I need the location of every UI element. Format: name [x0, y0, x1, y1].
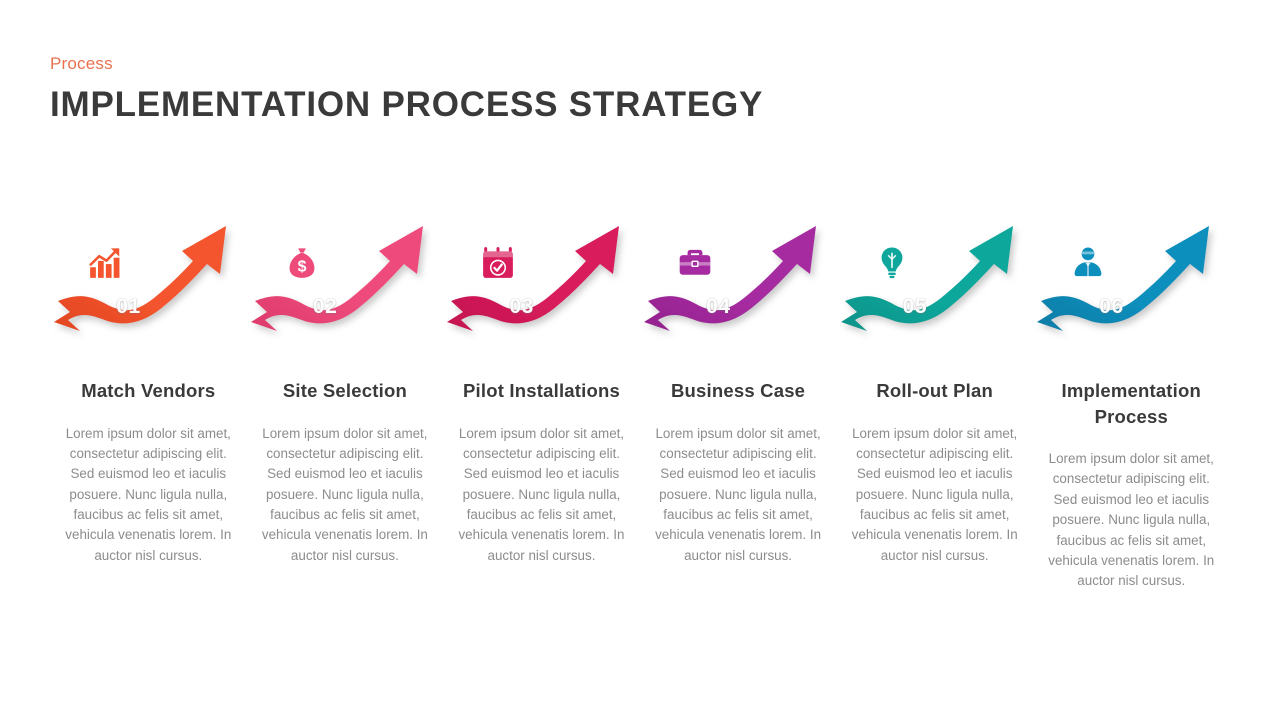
slide-header: Process IMPLEMENTATION PROCESS STRATEGY: [50, 54, 763, 125]
slide-canvas: Process IMPLEMENTATION PROCESS STRATEGY …: [0, 0, 1280, 720]
step-title-02: Site Selection: [255, 378, 435, 404]
step-title-06: Implementation Process: [1041, 378, 1221, 429]
step-number-06: 06: [1099, 296, 1123, 317]
svg-text:$: $: [297, 259, 306, 276]
process-step-04: 04Business CaseLorem ipsum dolor sit ame…: [640, 218, 837, 566]
step-title-04: Business Case: [648, 378, 828, 404]
process-step-06: 06Implementation ProcessLorem ipsum dolo…: [1033, 218, 1230, 592]
step-body-01: Lorem ipsum dolor sit amet, consectetur …: [60, 424, 236, 567]
lightbulb-icon: [875, 246, 909, 280]
person-user-icon: [1071, 246, 1105, 280]
step-arrow-graphic-01: 01: [50, 218, 246, 358]
process-step-01: 01Match VendorsLorem ipsum dolor sit ame…: [50, 218, 247, 566]
process-step-05: 05Roll-out PlanLorem ipsum dolor sit ame…: [836, 218, 1033, 566]
step-arrow-graphic-02: $ 02: [247, 218, 443, 358]
briefcase-icon: [678, 246, 712, 280]
process-step-03: 03Pilot InstallationsLorem ipsum dolor s…: [443, 218, 640, 566]
step-arrow-graphic-03: 03: [443, 218, 639, 358]
process-step-02: $ 02Site SelectionLorem ipsum dolor sit …: [247, 218, 444, 566]
step-number-03: 03: [509, 296, 533, 317]
bar-chart-growth-icon: [88, 246, 122, 280]
step-body-05: Lorem ipsum dolor sit amet, consectetur …: [847, 424, 1023, 567]
step-number-04: 04: [706, 296, 730, 317]
step-arrow-graphic-05: 05: [837, 218, 1033, 358]
step-body-06: Lorem ipsum dolor sit amet, consectetur …: [1043, 449, 1219, 592]
step-number-01: 01: [116, 296, 140, 317]
step-body-02: Lorem ipsum dolor sit amet, consectetur …: [257, 424, 433, 567]
process-steps-row: 01Match VendorsLorem ipsum dolor sit ame…: [50, 218, 1230, 592]
step-body-04: Lorem ipsum dolor sit amet, consectetur …: [650, 424, 826, 567]
step-title-03: Pilot Installations: [451, 378, 631, 404]
page-title: IMPLEMENTATION PROCESS STRATEGY: [50, 86, 763, 125]
step-body-03: Lorem ipsum dolor sit amet, consectetur …: [453, 424, 629, 567]
step-title-05: Roll-out Plan: [845, 378, 1025, 404]
money-bag-icon: $: [285, 246, 319, 280]
step-arrow-graphic-06: 06: [1033, 218, 1229, 358]
step-number-05: 05: [903, 296, 927, 317]
step-arrow-graphic-04: 04: [640, 218, 836, 358]
step-number-02: 02: [313, 296, 337, 317]
step-title-01: Match Vendors: [58, 378, 238, 404]
calendar-check-icon: [481, 246, 515, 280]
eyebrow-label: Process: [50, 54, 763, 74]
